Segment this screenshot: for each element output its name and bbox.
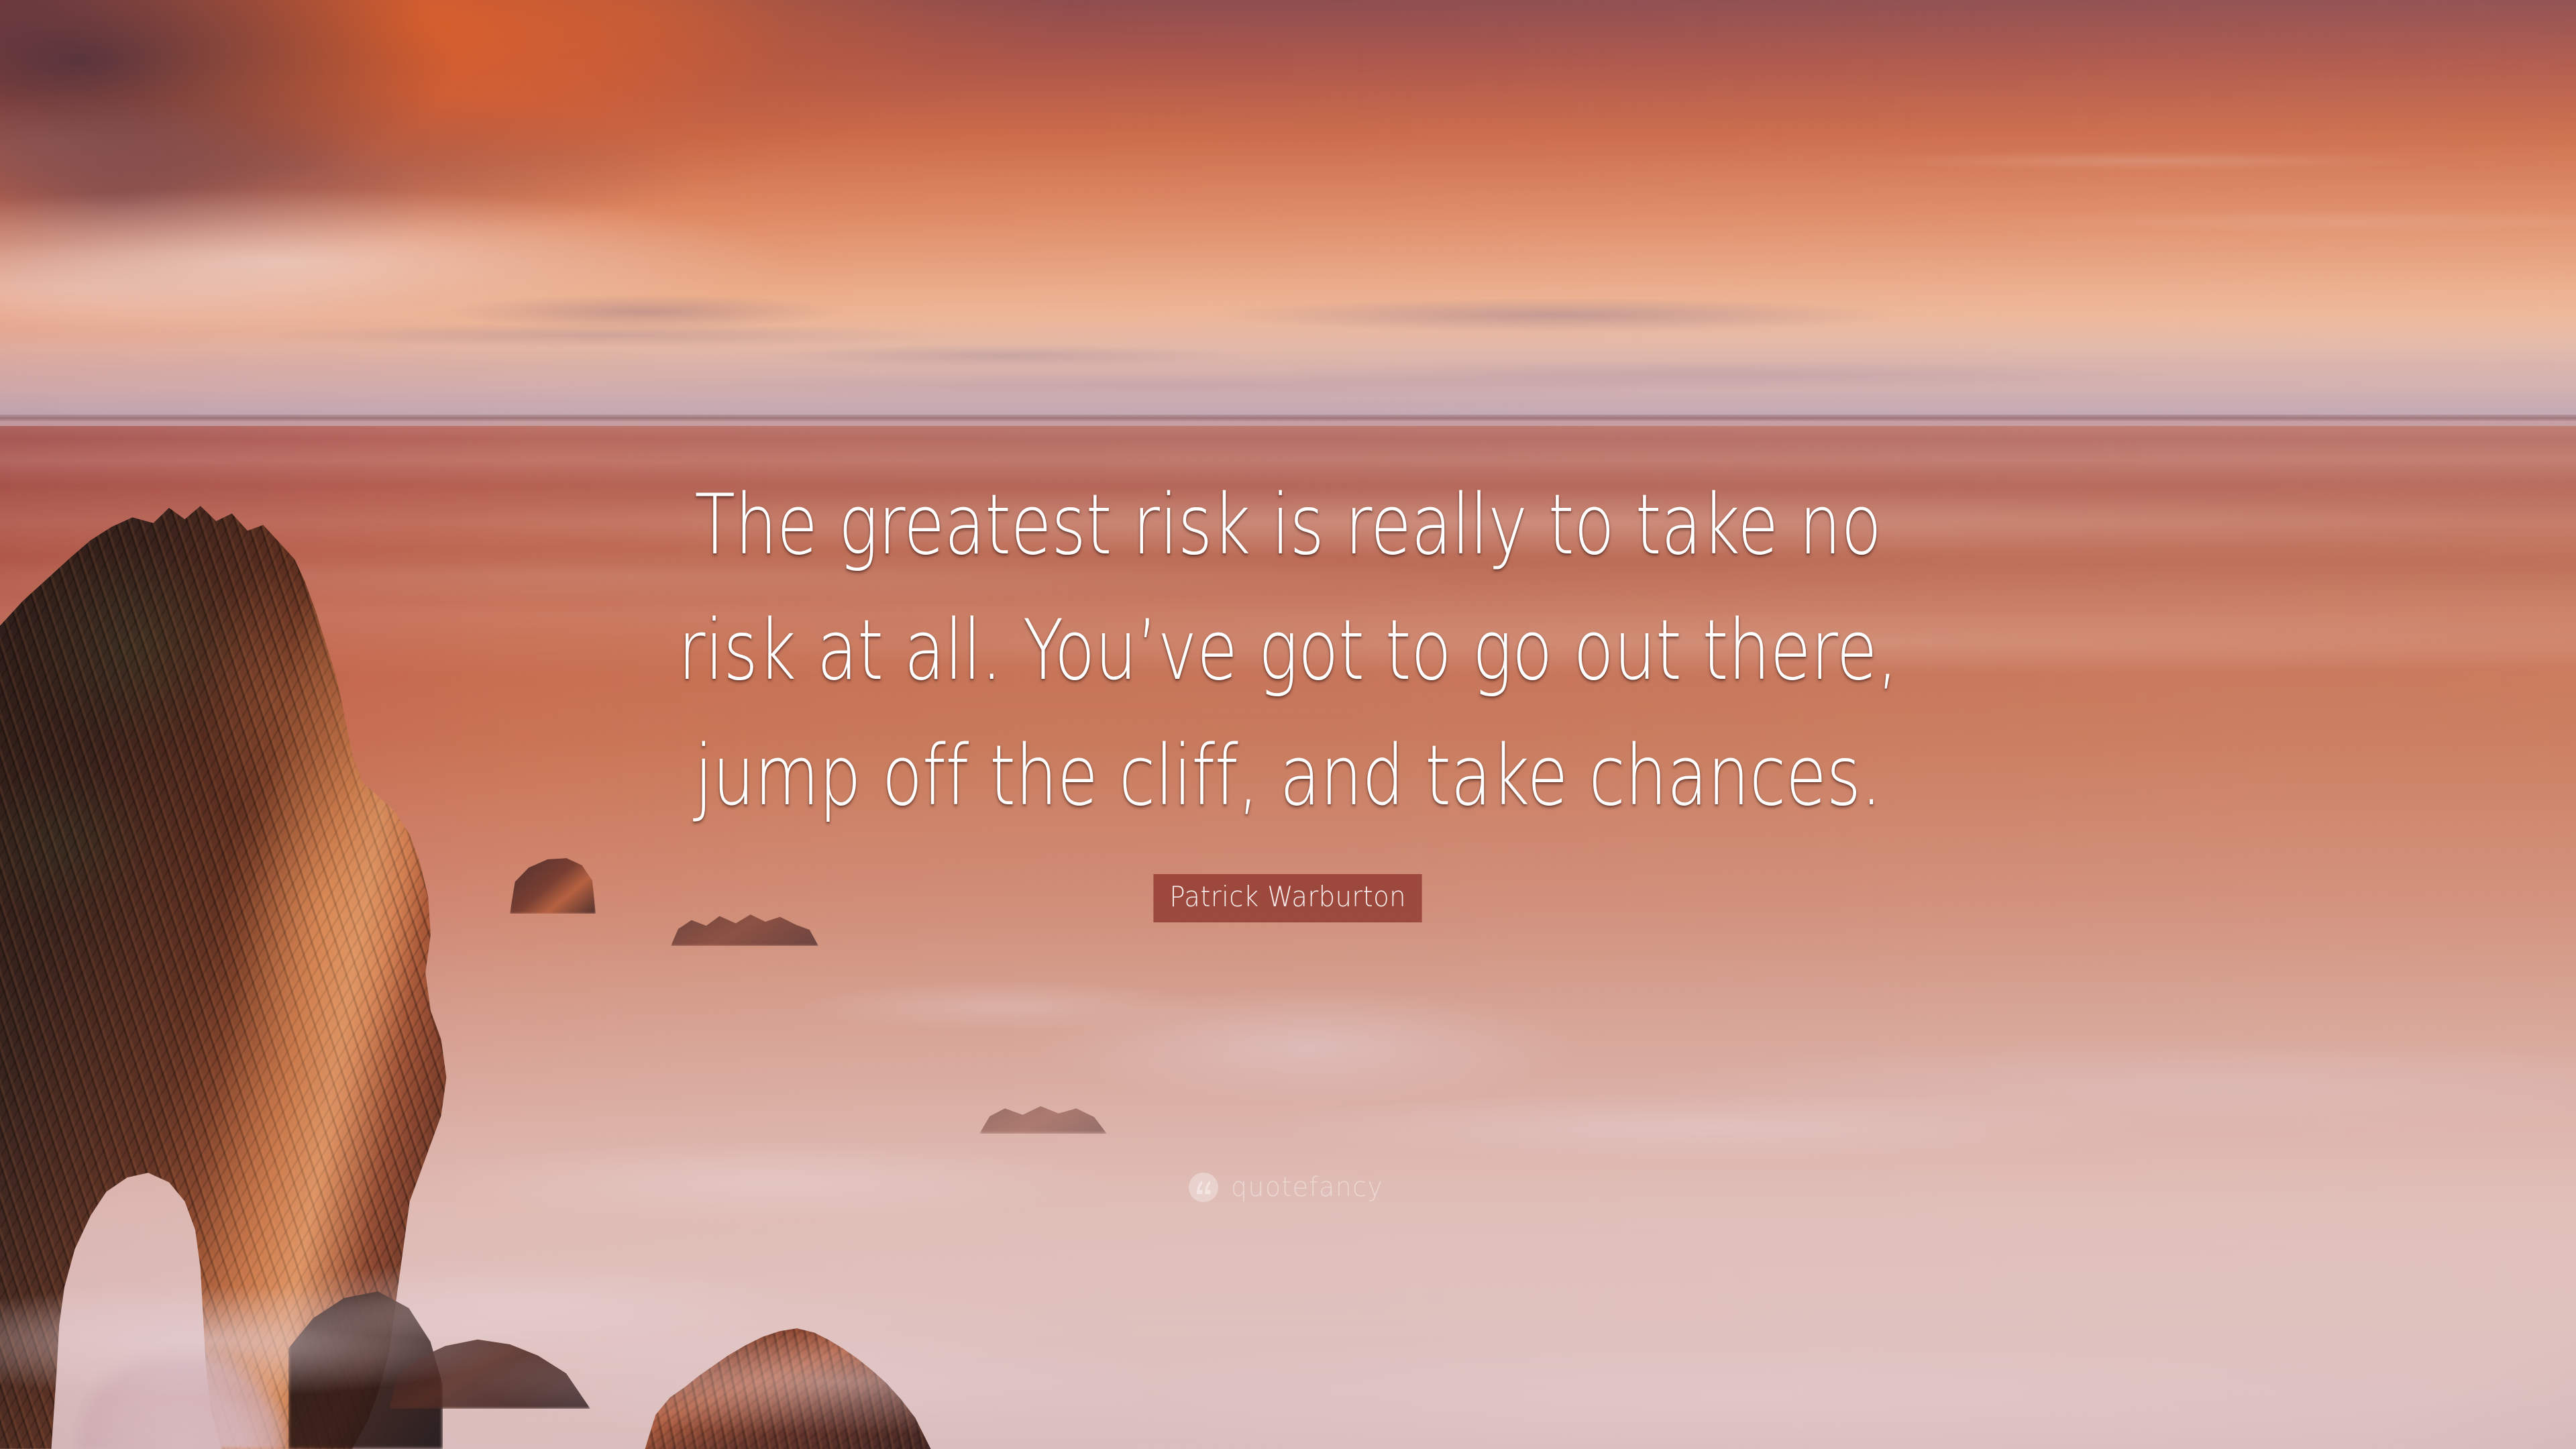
quote-line-3: jump off the cliff, and take chances. [537, 714, 2039, 839]
quote-line-2: risk at all. You’ve got to go out there, [537, 588, 2039, 714]
quote-line-1: The greatest risk is really to take no [537, 463, 2039, 588]
quote-block: The greatest risk is really to take no r… [349, 463, 2227, 922]
author-attribution-badge: Patrick Warburton [1154, 874, 1423, 922]
double-quote-icon [1189, 1173, 1218, 1202]
watermark[interactable]: quotefancy [0, 1173, 2576, 1202]
watermark-brand: quotefancy [1231, 1174, 1383, 1201]
overlay-content: The greatest risk is really to take no r… [0, 0, 2576, 1449]
quote-poster: The greatest risk is really to take no r… [0, 0, 2576, 1449]
